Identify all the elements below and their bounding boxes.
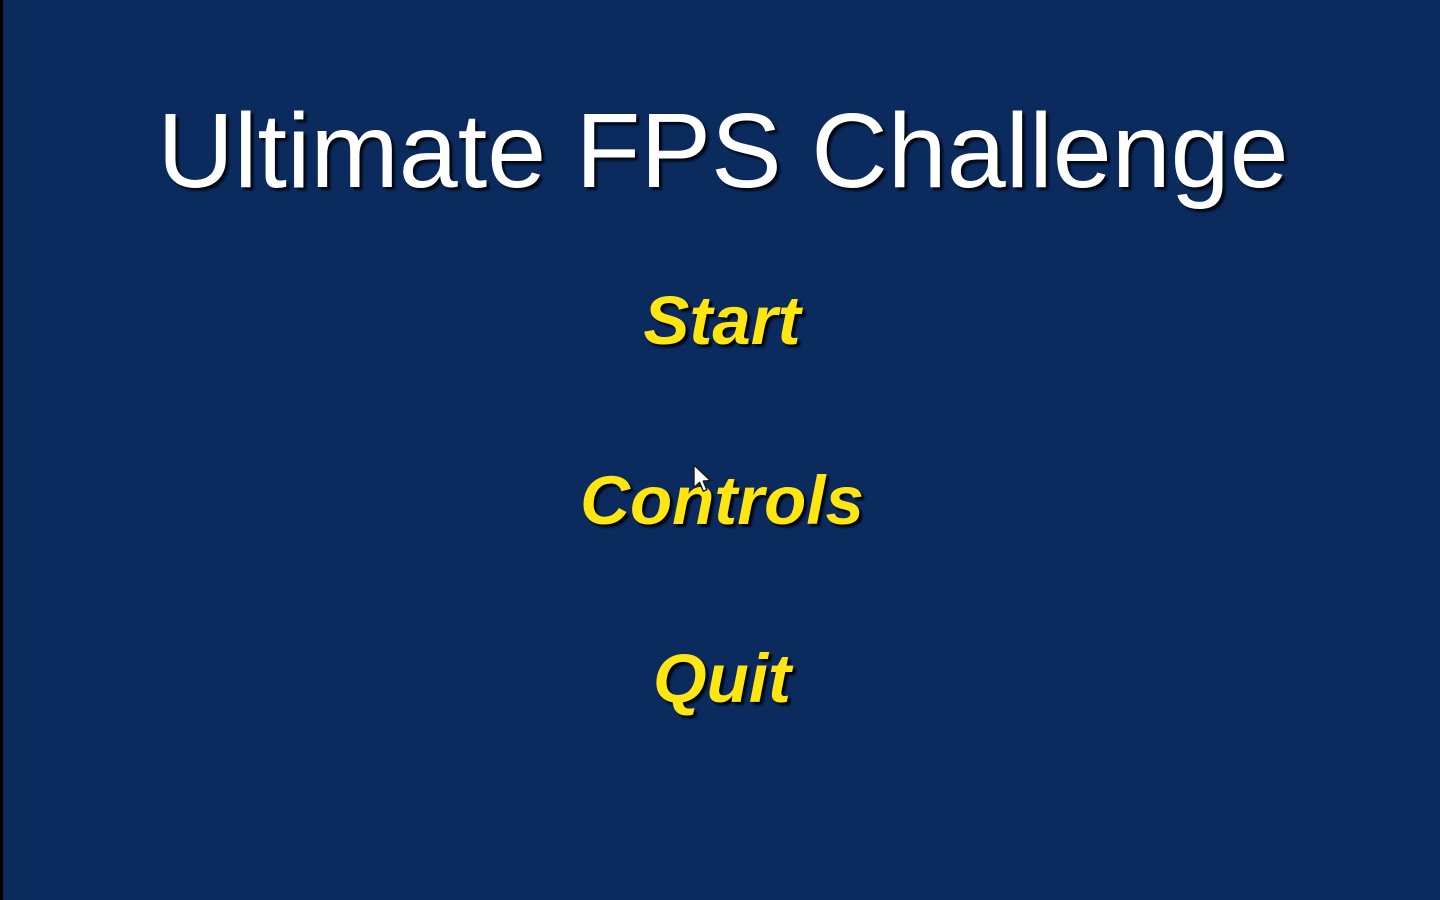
menu-item-controls[interactable]: Controls: [0, 466, 1440, 535]
game-main-menu-screen: Ultimate FPS Challenge Start Controls Qu…: [0, 0, 1440, 900]
menu-item-start[interactable]: Start: [0, 286, 1440, 355]
menu-item-quit[interactable]: Quit: [0, 644, 1440, 713]
main-menu: Start Controls Quit: [0, 0, 1440, 900]
